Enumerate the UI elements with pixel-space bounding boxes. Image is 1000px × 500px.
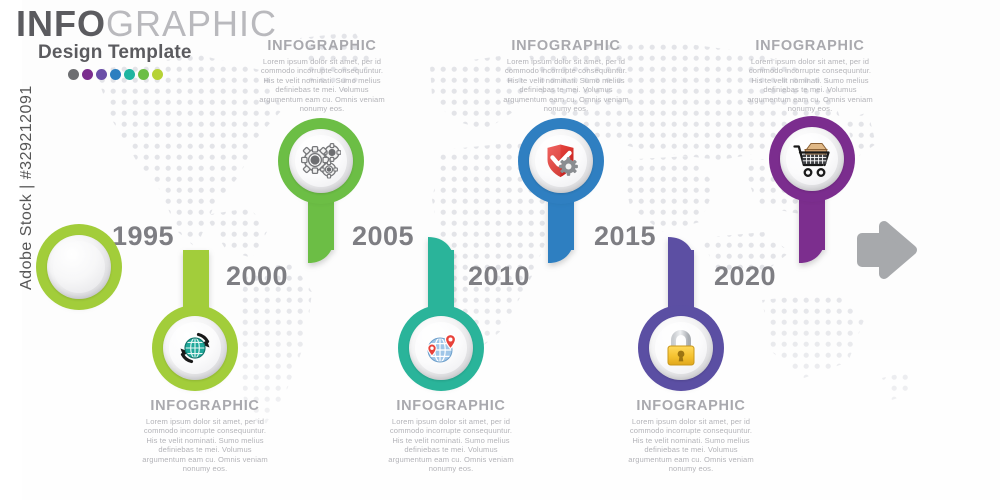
- timeline-node-node-2020[interactable]: [638, 305, 724, 391]
- timeline-node-node-2005[interactable]: [278, 118, 364, 204]
- gears-icon: [301, 141, 341, 181]
- infographic-canvas: Adobe Stock | #329212091 INFOGRAPHIC Des…: [0, 0, 1000, 500]
- timeline-arrow-icon: [862, 226, 912, 274]
- shield-check-gear-icon: [541, 141, 581, 181]
- node-inner-face: [53, 241, 105, 293]
- node-inner-face: [655, 322, 707, 374]
- empty-circle-icon: [59, 247, 99, 287]
- globe-recycle-icon: [175, 328, 215, 368]
- text-block-node-end: INFOGRAPHICLorem ipsum dolor sit amet, p…: [744, 38, 876, 113]
- text-block-body: Lorem ipsum dolor sit amet, per id commo…: [744, 57, 876, 113]
- text-block-body: Lorem ipsum dolor sit amet, per id commo…: [500, 57, 632, 113]
- text-block-node-2015: INFOGRAPHICLorem ipsum dolor sit amet, p…: [500, 38, 632, 113]
- text-block-node-2020: INFOGRAPHICLorem ipsum dolor sit amet, p…: [625, 398, 757, 473]
- node-inner-face: [535, 135, 587, 187]
- text-block-title: INFOGRAPHIC: [256, 38, 388, 54]
- node-inner-face: [169, 322, 221, 374]
- text-block-node-2000: INFOGRAPHICLorem ipsum dolor sit amet, p…: [139, 398, 271, 473]
- text-block-title: INFOGRAPHIC: [385, 398, 517, 414]
- text-block-body: Lorem ipsum dolor sit amet, per id commo…: [385, 417, 517, 473]
- text-block-title: INFOGRAPHIC: [500, 38, 632, 54]
- text-block-node-2005: INFOGRAPHICLorem ipsum dolor sit amet, p…: [256, 38, 388, 113]
- node-inner-face: [415, 322, 467, 374]
- timeline-node-start[interactable]: [36, 224, 122, 310]
- node-inner-face: [786, 133, 838, 185]
- node-inner-face: [295, 135, 347, 187]
- year-label-2015: 2015: [594, 221, 656, 252]
- year-label-2000: 2000: [226, 261, 288, 292]
- text-block-body: Lorem ipsum dolor sit amet, per id commo…: [139, 417, 271, 473]
- year-label-2005: 2005: [352, 221, 414, 252]
- timeline-node-node-end[interactable]: [769, 116, 855, 202]
- year-label-2020: 2020: [714, 261, 776, 292]
- text-block-body: Lorem ipsum dolor sit amet, per id commo…: [625, 417, 757, 473]
- text-block-title: INFOGRAPHIC: [139, 398, 271, 414]
- globe-pins-icon: [421, 328, 461, 368]
- timeline-node-node-2015[interactable]: [518, 118, 604, 204]
- timeline-node-node-2000[interactable]: [152, 305, 238, 391]
- timeline-node-node-2010[interactable]: [398, 305, 484, 391]
- year-label-2010: 2010: [468, 261, 530, 292]
- text-block-title: INFOGRAPHIC: [625, 398, 757, 414]
- text-block-node-2010: INFOGRAPHICLorem ipsum dolor sit amet, p…: [385, 398, 517, 473]
- padlock-icon: [661, 328, 701, 368]
- text-block-body: Lorem ipsum dolor sit amet, per id commo…: [256, 57, 388, 113]
- text-block-title: INFOGRAPHIC: [744, 38, 876, 54]
- shopping-cart-icon: [792, 139, 832, 179]
